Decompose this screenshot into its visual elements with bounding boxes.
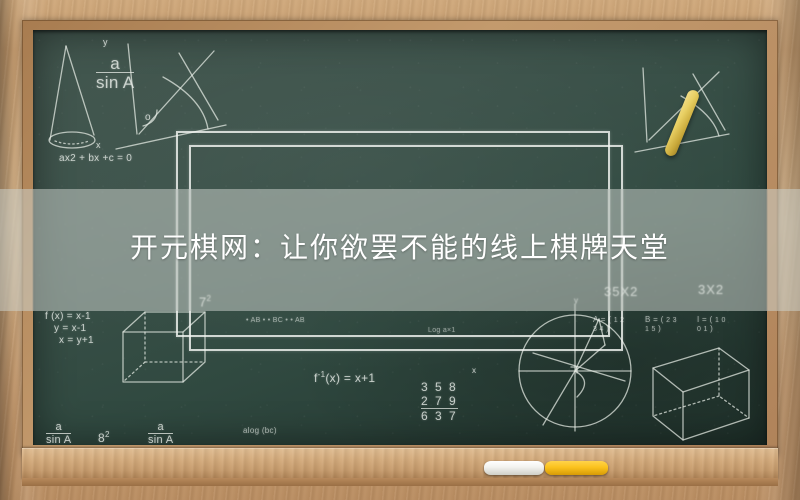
chalk-segment-notes: • AB • • BC • • AB (246, 317, 305, 324)
chalk-ledge (22, 448, 778, 480)
chalk-function-lines: f (x) = x-1 y = x-1 x = y+1 (45, 311, 94, 347)
chalk-axis-y-topleft: y (103, 37, 108, 47)
chalk-eight-base: 8 (98, 431, 105, 445)
chalk-matrix-a: A = ( 1 23 4 ) (593, 315, 624, 333)
yellow-chalk-eraser (545, 461, 608, 475)
chalk-inverse-rest: (x) = x+1 (325, 371, 375, 385)
chalk-matrix-i: I = ( 1 00 1 ) (697, 315, 726, 333)
chalk-inverse-exp: -1 (318, 370, 326, 379)
chalk-fraction-a-over-sinA-topleft: a sin A (96, 55, 134, 92)
chalk-division-top: 3 5 8 (421, 380, 458, 394)
chalk-eight-squared: 82 (98, 430, 110, 445)
chalk-function-line-1: f (x) = x-1 (45, 311, 94, 323)
chalk-function-line-3: x = y+1 (45, 335, 94, 347)
cube-right-drawing (653, 348, 749, 440)
cone-drawing (49, 46, 95, 148)
chalk-angle-label-topleft: o (145, 112, 151, 123)
cube-left-drawing (123, 312, 205, 382)
chalk-log-bc-note: alog (bc) (243, 426, 277, 435)
chalk-matrix-b: B = ( 2 31 5 ) (645, 315, 677, 333)
chalk-eight-exponent: 2 (105, 430, 110, 439)
chalk-division-mid: 2 7 9 (421, 394, 458, 409)
chalk-quadratic-equation: ax2 + bx +c = 0 (59, 153, 132, 164)
chalk-axis-x-sphere: x (472, 366, 476, 375)
chalk-function-line-2: y = x-1 (45, 323, 94, 335)
chalk-log-ax1: Log a×1 (428, 327, 456, 334)
sphere-axes-drawing (519, 305, 631, 431)
angle-diagram (116, 44, 226, 149)
chalkboard-banner: a sin A y x o ax2 + bx +c = 0 f (x) = x-… (0, 0, 800, 500)
chalk-inverse-function: f-1(x) = x+1 (314, 370, 375, 385)
chalk-axis-x-topleft: x (96, 140, 101, 150)
chalk-division-bot: 6 3 7 (421, 409, 458, 423)
headline-title: 开元棋网：让你欲罢不能的线上棋牌天堂 (0, 226, 800, 266)
chalk-division-problem: 3 5 8 2 7 9 6 3 7 (421, 380, 458, 423)
chalk-ledge-lip (22, 478, 778, 486)
chalk-inverse-f: f (314, 371, 318, 385)
chalk-fraction-a-over-sinA-bl1: a sin A (46, 422, 71, 445)
chalk-fraction-a-over-sinA-bl2: a sin A (148, 422, 173, 445)
white-chalk (484, 461, 544, 475)
